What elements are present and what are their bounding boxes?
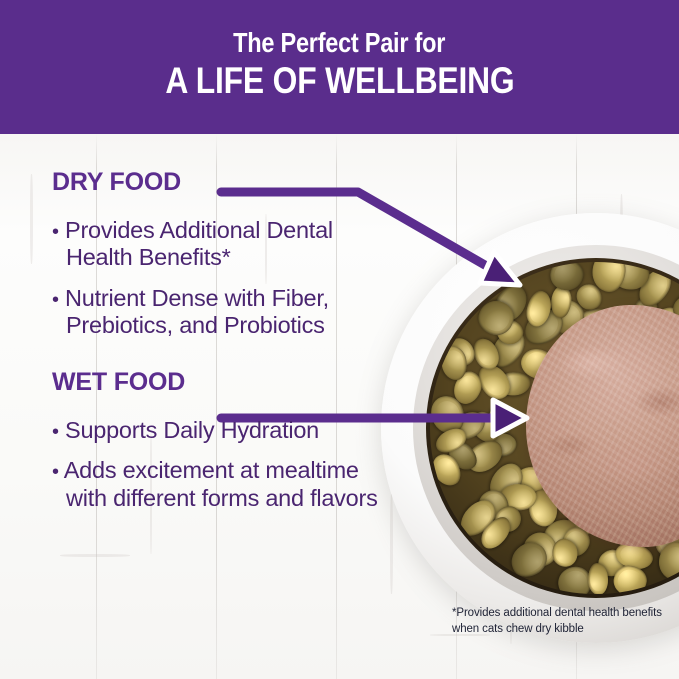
bullet-text: Adds excitement at mealtime with differe… bbox=[64, 457, 378, 510]
bullet-dot: • bbox=[52, 421, 59, 443]
bullet-text: Nutrient Dense with Fiber, Prebiotics, a… bbox=[65, 285, 329, 338]
wet-food-mound bbox=[526, 305, 679, 547]
bullet-dot: • bbox=[52, 221, 59, 243]
bullet-text: Supports Daily Hydration bbox=[65, 417, 319, 443]
wood-grain bbox=[30, 174, 33, 264]
wet-food-heading: WET FOOD bbox=[52, 370, 382, 395]
wet-food-bullet-list: • Supports Daily Hydration • Adds excite… bbox=[52, 417, 382, 512]
dry-food-heading: DRY FOOD bbox=[52, 170, 382, 195]
bullet-dot: • bbox=[52, 461, 59, 483]
promo-image: The Perfect Pair for A LIFE OF WELLBEING bbox=[0, 0, 679, 679]
wood-grain bbox=[60, 554, 130, 557]
header-banner: The Perfect Pair for A LIFE OF WELLBEING bbox=[0, 0, 679, 134]
bullet-text: Provides Additional Dental Health Benefi… bbox=[65, 217, 333, 270]
list-item: • Supports Daily Hydration bbox=[52, 417, 382, 444]
list-item: • Provides Additional Dental Health Bene… bbox=[52, 217, 382, 272]
footnote-disclaimer: *Provides additional dental health benef… bbox=[452, 606, 667, 638]
benefits-copy: DRY FOOD • Provides Additional Dental He… bbox=[52, 170, 382, 525]
food-bowl-photo bbox=[381, 213, 679, 643]
banner-headline-main: A LIFE OF WELLBEING bbox=[165, 61, 514, 102]
list-item: • Adds excitement at mealtime with diffe… bbox=[52, 457, 382, 512]
dry-food-bullet-list: • Provides Additional Dental Health Bene… bbox=[52, 217, 382, 340]
list-item: • Nutrient Dense with Fiber, Prebiotics,… bbox=[52, 285, 382, 340]
banner-headline-top: The Perfect Pair for bbox=[234, 28, 446, 58]
bullet-dot: • bbox=[52, 289, 59, 311]
